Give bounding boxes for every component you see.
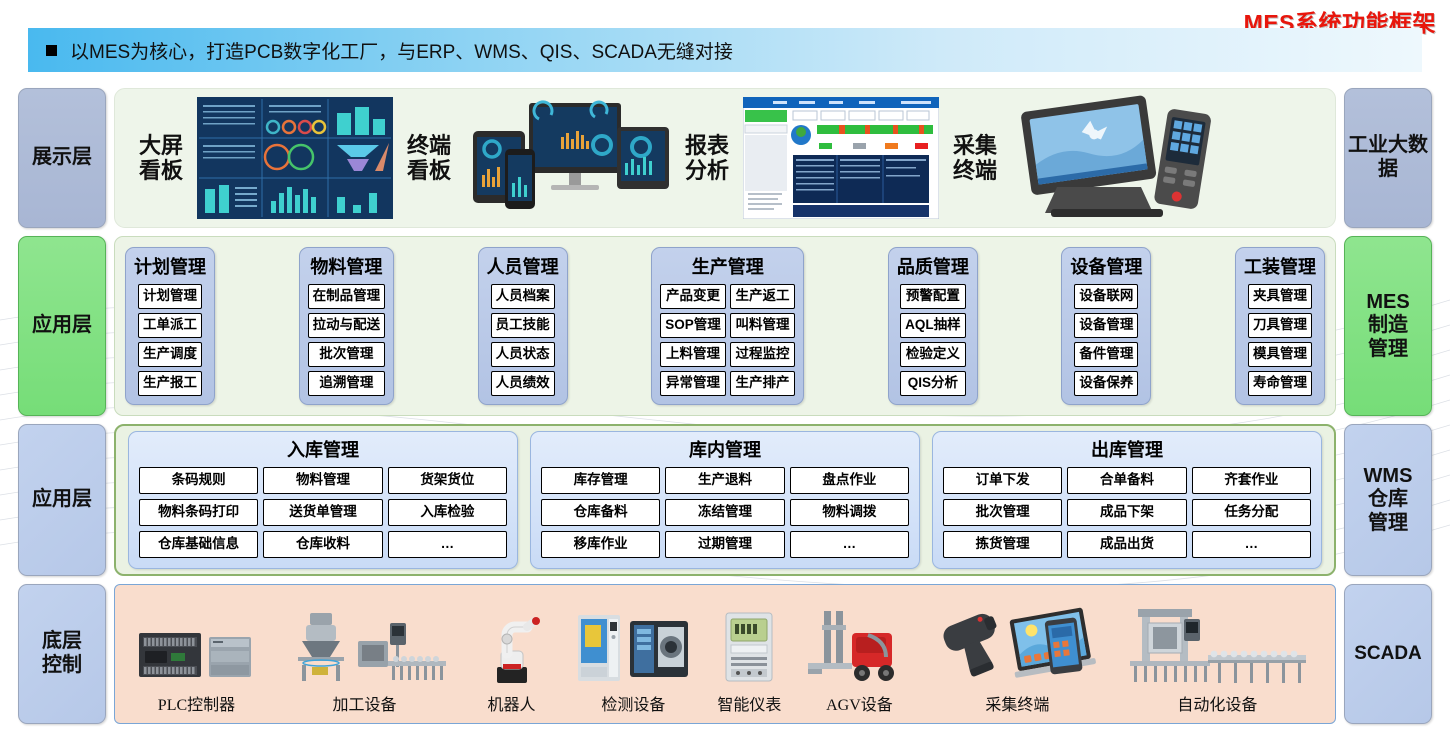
- mes-module-item[interactable]: 工单派工: [138, 313, 202, 338]
- mes-module-item[interactable]: 拉动与配送: [308, 313, 386, 338]
- layer-label-mes-left: 应用层: [18, 236, 106, 416]
- mes-module-item[interactable]: 夹具管理: [1248, 284, 1312, 309]
- plc-controller-icon: [137, 591, 255, 691]
- mes-module-item[interactable]: 批次管理: [308, 342, 386, 367]
- mes-module-item[interactable]: 刀具管理: [1248, 313, 1312, 338]
- scada-device-label: 采集终端: [985, 691, 1049, 715]
- wms-module-title: 入库管理: [287, 436, 359, 462]
- mes-module-card[interactable]: 品质管理预警配置AQL抽样检验定义QIS分析: [888, 247, 978, 404]
- mes-module-item[interactable]: 预警配置: [900, 284, 966, 309]
- scada-device-label: 加工设备: [332, 691, 396, 715]
- display-item-label-2: 报表分析: [675, 133, 739, 184]
- layer-label-mes-right: MES 制造 管理: [1344, 236, 1432, 416]
- mes-module-title: 设备管理: [1070, 253, 1142, 279]
- multi-device-dashboard-image: [465, 97, 671, 219]
- mes-module-title: 人员管理: [487, 253, 559, 279]
- wms-module-item[interactable]: 物料管理: [263, 467, 382, 494]
- headline-banner: 以MES为核心，打造PCB数字化工厂，与ERP、WMS、QIS、SCADA无缝对…: [28, 28, 1422, 72]
- wms-module-item[interactable]: 送货单管理: [263, 499, 382, 526]
- scada-device[interactable]: 机器人: [473, 591, 549, 715]
- display-item-label-0: 大屏看板: [129, 133, 193, 184]
- mes-module-title: 品质管理: [897, 253, 969, 279]
- mes-module-item[interactable]: 人员绩效: [491, 371, 555, 396]
- processing-machine-icon: [280, 591, 448, 691]
- inspection-cabinet-icon: [574, 591, 692, 691]
- scada-device-label: 智能仪表: [717, 691, 781, 715]
- mes-module-item[interactable]: 生产报工: [138, 371, 202, 396]
- mes-module-item[interactable]: 异常管理: [660, 371, 726, 396]
- wms-module-item[interactable]: 过期管理: [665, 531, 784, 558]
- mes-module-title: 工装管理: [1244, 253, 1316, 279]
- wms-module-item[interactable]: 批次管理: [943, 499, 1062, 526]
- wms-module-item[interactable]: 盘点作业: [790, 467, 909, 494]
- mes-module-card[interactable]: 工装管理夹具管理刀具管理模具管理寿命管理: [1235, 247, 1325, 404]
- scada-device[interactable]: 检测设备: [574, 591, 692, 715]
- mes-module-item[interactable]: QIS分析: [900, 371, 966, 396]
- wms-module-item[interactable]: 仓库备料: [541, 499, 660, 526]
- wms-module-item[interactable]: 仓库基础信息: [139, 531, 258, 558]
- scada-device-label: AGV设备: [826, 691, 893, 715]
- scada-device[interactable]: AGV设备: [806, 591, 912, 715]
- mes-module-item[interactable]: 人员状态: [491, 342, 555, 367]
- mes-module-card[interactable]: 物料管理在制品管理拉动与配送批次管理追溯管理: [299, 247, 395, 404]
- mes-module-card[interactable]: 设备管理设备联网设备管理备件管理设备保养: [1061, 247, 1151, 404]
- scada-device-label: 检测设备: [601, 691, 665, 715]
- mes-module-item[interactable]: 寿命管理: [1248, 371, 1312, 396]
- wms-module-item-grid: 库存管理生产退料盘点作业仓库备料冻结管理物料调拨移库作业过期管理…: [541, 467, 909, 558]
- mes-module-item-grid: 预警配置AQL抽样检验定义QIS分析: [900, 284, 966, 395]
- agv-forklift-icon: [806, 591, 912, 691]
- wms-module-item[interactable]: 入库检验: [388, 499, 507, 526]
- mes-module-item[interactable]: 生产返工: [730, 284, 796, 309]
- wms-module-item[interactable]: …: [388, 531, 507, 558]
- pos-terminal-and-pda-image: [1011, 95, 1211, 221]
- scada-device[interactable]: 自动化设备: [1122, 591, 1312, 715]
- wms-module-item[interactable]: 任务分配: [1192, 499, 1311, 526]
- wms-module-item[interactable]: 成品出货: [1067, 531, 1186, 558]
- mes-module-item[interactable]: 产品变更: [660, 284, 726, 309]
- wms-module-item-grid: 条码规则物料管理货架货位物料条码打印送货单管理入库检验仓库基础信息仓库收料…: [139, 467, 507, 558]
- report-window-image: [743, 97, 939, 219]
- wms-module-title: 库内管理: [689, 436, 761, 462]
- layer-label-display-right: 工业大数据: [1344, 88, 1432, 228]
- mes-module-item[interactable]: 叫料管理: [730, 313, 796, 338]
- mes-module-item[interactable]: 设备保养: [1074, 371, 1138, 396]
- wms-module-title: 出库管理: [1091, 436, 1163, 462]
- wms-module-card[interactable]: 出库管理订单下发合单备料齐套作业批次管理成品下架任务分配拣货管理成品出货…: [932, 431, 1322, 569]
- mes-layer-band: 计划管理计划管理工单派工生产调度生产报工物料管理在制品管理拉动与配送批次管理追溯…: [114, 236, 1336, 416]
- mes-module-item[interactable]: 检验定义: [900, 342, 966, 367]
- layer-label-wms-left: 应用层: [18, 424, 106, 576]
- mes-module-item[interactable]: 上料管理: [660, 342, 726, 367]
- mes-module-item[interactable]: 在制品管理: [308, 284, 386, 309]
- wms-module-card[interactable]: 入库管理条码规则物料管理货架货位物料条码打印送货单管理入库检验仓库基础信息仓库收…: [128, 431, 518, 569]
- bullet-marker-icon: [46, 45, 57, 56]
- automation-line-icon: [1122, 591, 1312, 691]
- wms-module-item[interactable]: 冻结管理: [665, 499, 784, 526]
- wms-module-item[interactable]: 成品下架: [1067, 499, 1186, 526]
- dashboard-screen-image: [197, 97, 393, 219]
- layer-label-scada-right: SCADA: [1344, 584, 1432, 724]
- scada-device[interactable]: 加工设备: [280, 591, 448, 715]
- mes-module-item-grid: 产品变更生产返工SOP管理叫料管理上料管理过程监控异常管理生产排产: [660, 284, 795, 395]
- mes-module-title: 计划管理: [134, 253, 206, 279]
- mes-module-item-grid: 设备联网设备管理备件管理设备保养: [1074, 284, 1138, 395]
- mes-module-title: 物料管理: [310, 253, 382, 279]
- layer-label-display-left: 展示层: [18, 88, 106, 228]
- wms-layer-band: 入库管理条码规则物料管理货架货位物料条码打印送货单管理入库检验仓库基础信息仓库收…: [114, 424, 1336, 576]
- mes-module-item[interactable]: SOP管理: [660, 313, 726, 338]
- smart-meter-icon: [718, 591, 780, 691]
- mes-module-item-grid: 人员档案员工技能人员状态人员绩效: [491, 284, 555, 395]
- display-item-label-1: 终端看板: [397, 133, 461, 184]
- mes-module-card[interactable]: 计划管理计划管理工单派工生产调度生产报工: [125, 247, 215, 404]
- wms-module-item[interactable]: 齐套作业: [1192, 467, 1311, 494]
- headline-text: 以MES为核心，打造PCB数字化工厂，与ERP、WMS、QIS、SCADA无缝对…: [70, 37, 733, 64]
- mes-module-item[interactable]: 设备联网: [1074, 284, 1138, 309]
- mes-module-item[interactable]: 生产调度: [138, 342, 202, 367]
- mes-module-item[interactable]: 生产排产: [730, 371, 796, 396]
- wms-module-item[interactable]: 条码规则: [139, 467, 258, 494]
- mes-module-item[interactable]: 设备管理: [1074, 313, 1138, 338]
- mes-module-item[interactable]: 过程监控: [730, 342, 796, 367]
- wms-module-item[interactable]: 物料调拨: [790, 499, 909, 526]
- scada-device[interactable]: 智能仪表: [717, 591, 781, 715]
- display-item-label-3: 采集终端: [943, 133, 1007, 184]
- wms-module-item[interactable]: …: [1192, 531, 1311, 558]
- wms-module-item[interactable]: 合单备料: [1067, 467, 1186, 494]
- mes-module-item[interactable]: 人员档案: [491, 284, 555, 309]
- scada-device[interactable]: 采集终端: [937, 591, 1097, 715]
- wms-module-card[interactable]: 库内管理库存管理生产退料盘点作业仓库备料冻结管理物料调拨移库作业过期管理…: [530, 431, 920, 569]
- wms-module-item[interactable]: 拣货管理: [943, 531, 1062, 558]
- mes-module-item[interactable]: AQL抽样: [900, 313, 966, 338]
- layer-label-wms-right: WMS 仓库 管理: [1344, 424, 1432, 576]
- mes-module-item-grid: 计划管理工单派工生产调度生产报工: [138, 284, 202, 395]
- scada-device-label: 自动化设备: [1177, 691, 1257, 715]
- wms-module-item-grid: 订单下发合单备料齐套作业批次管理成品下架任务分配拣货管理成品出货…: [943, 467, 1311, 558]
- wms-module-item[interactable]: 仓库收料: [263, 531, 382, 558]
- robot-arm-icon: [473, 591, 549, 691]
- layer-label-scada-left: 底层 控制: [18, 584, 106, 724]
- mes-module-item[interactable]: 计划管理: [138, 284, 202, 309]
- mes-module-item[interactable]: 员工技能: [491, 313, 555, 338]
- mes-module-title: 生产管理: [692, 253, 764, 279]
- wms-module-item[interactable]: 订单下发: [943, 467, 1062, 494]
- wms-module-item[interactable]: 货架货位: [388, 467, 507, 494]
- scada-layer-band: PLC控制器 加工设备 机器人: [114, 584, 1336, 724]
- wms-module-item[interactable]: …: [790, 531, 909, 558]
- scada-device-label: PLC控制器: [158, 691, 235, 715]
- mes-module-item[interactable]: 追溯管理: [308, 371, 386, 396]
- mes-module-item-grid: 夹具管理刀具管理模具管理寿命管理: [1248, 284, 1312, 395]
- mes-module-item[interactable]: 备件管理: [1074, 342, 1138, 367]
- wms-module-item[interactable]: 移库作业: [541, 531, 660, 558]
- mes-module-card[interactable]: 生产管理产品变更生产返工SOP管理叫料管理上料管理过程监控异常管理生产排产: [651, 247, 804, 404]
- mes-module-card[interactable]: 人员管理人员档案员工技能人员状态人员绩效: [478, 247, 568, 404]
- mes-module-item[interactable]: 模具管理: [1248, 342, 1312, 367]
- scanner-tablet-phone-icon: [937, 591, 1097, 691]
- scada-device-label: 机器人: [487, 691, 535, 715]
- mes-module-item-grid: 在制品管理拉动与配送批次管理追溯管理: [308, 284, 386, 395]
- wms-module-item[interactable]: 生产退料: [665, 467, 784, 494]
- wms-module-item[interactable]: 物料条码打印: [139, 499, 258, 526]
- wms-module-item[interactable]: 库存管理: [541, 467, 660, 494]
- display-layer-band: 大屏看板: [114, 88, 1336, 228]
- scada-device[interactable]: PLC控制器: [137, 591, 255, 715]
